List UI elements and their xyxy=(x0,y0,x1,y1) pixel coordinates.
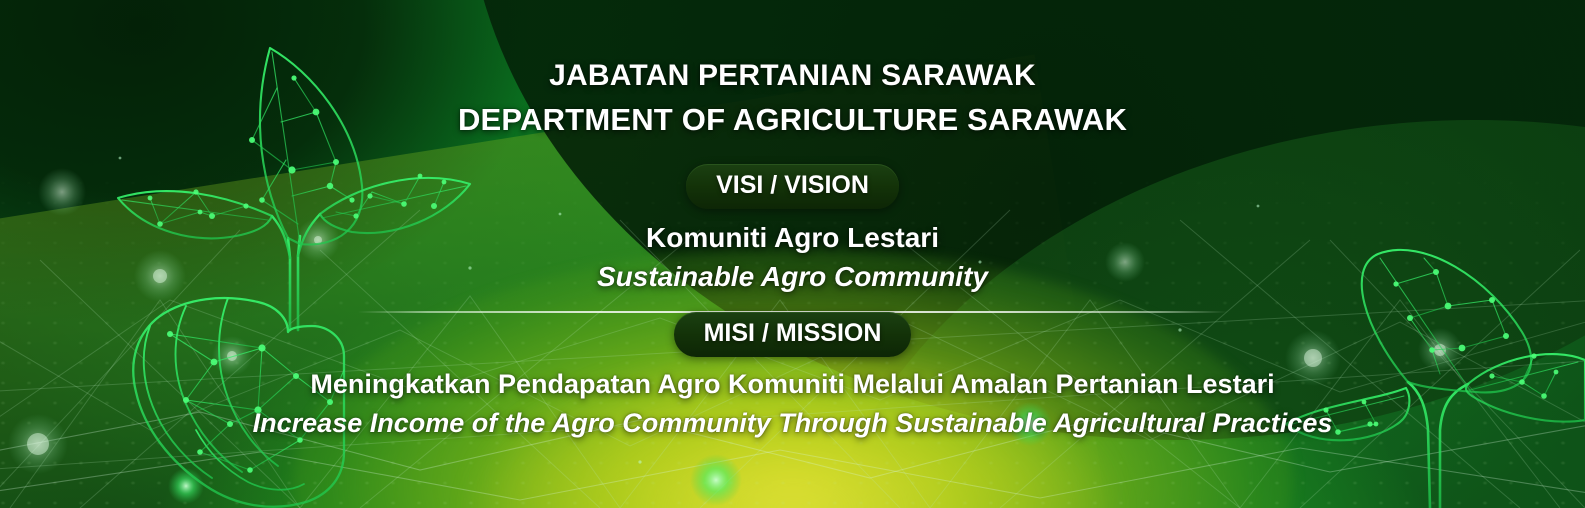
organization-name-en: DEPARTMENT OF AGRICULTURE SARAWAK xyxy=(458,98,1127,142)
vision-badge: VISI / VISION xyxy=(686,164,899,209)
mission-statement-en: Increase Income of the Agro Community Th… xyxy=(253,408,1333,439)
mission-statement-bm: Meningkatkan Pendapatan Agro Komuniti Me… xyxy=(310,369,1274,400)
vision-mission-banner: JABATAN PERTANIAN SARAWAK DEPARTMENT OF … xyxy=(0,0,1585,508)
vision-statement-en: Sustainable Agro Community xyxy=(597,261,988,293)
mission-badge: MISI / MISSION xyxy=(674,312,912,357)
organization-name-bm: JABATAN PERTANIAN SARAWAK xyxy=(458,55,1127,98)
banner-content: JABATAN PERTANIAN SARAWAK DEPARTMENT OF … xyxy=(0,0,1585,508)
vision-statement-bm: Komuniti Agro Lestari xyxy=(646,222,939,254)
organization-title: JABATAN PERTANIAN SARAWAK DEPARTMENT OF … xyxy=(458,55,1127,142)
